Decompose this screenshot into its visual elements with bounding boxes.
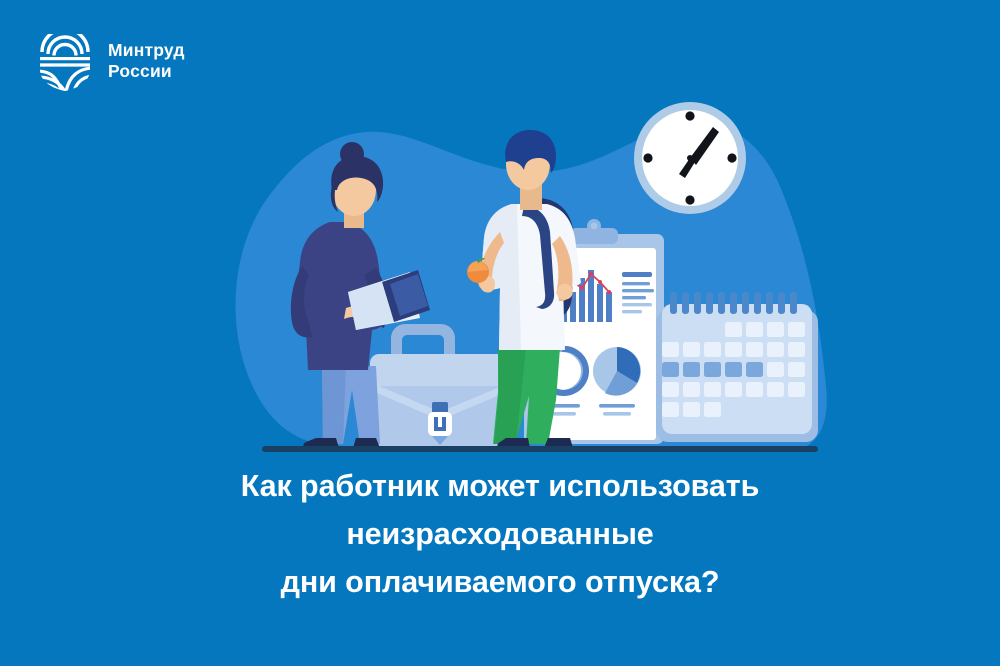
mintrud-shield-logo-icon (36, 30, 94, 92)
workers-vacation-illustration (0, 86, 1000, 458)
brand-name: МинтрудРоссии (108, 40, 185, 83)
ground-line (262, 446, 818, 452)
clipboard-pie-chart (593, 347, 641, 416)
brand-name-line1: Минтруд (108, 40, 185, 60)
page-title: Как работник может использовать неизрасх… (0, 462, 1000, 606)
brand-logo-block: МинтрудРоссии (36, 30, 185, 92)
calendar-highlighted-days (662, 362, 763, 377)
brand-name-line2: России (108, 61, 172, 81)
wall-calendar (656, 292, 818, 442)
page-title-line2: неизрасходованные (60, 510, 940, 558)
wall-clock (634, 102, 746, 214)
poster-canvas: МинтрудРоссии (0, 0, 1000, 666)
page-title-line1: Как работник может использовать (60, 462, 940, 510)
page-title-line3: дни оплачиваемого отпуска? (60, 558, 940, 606)
